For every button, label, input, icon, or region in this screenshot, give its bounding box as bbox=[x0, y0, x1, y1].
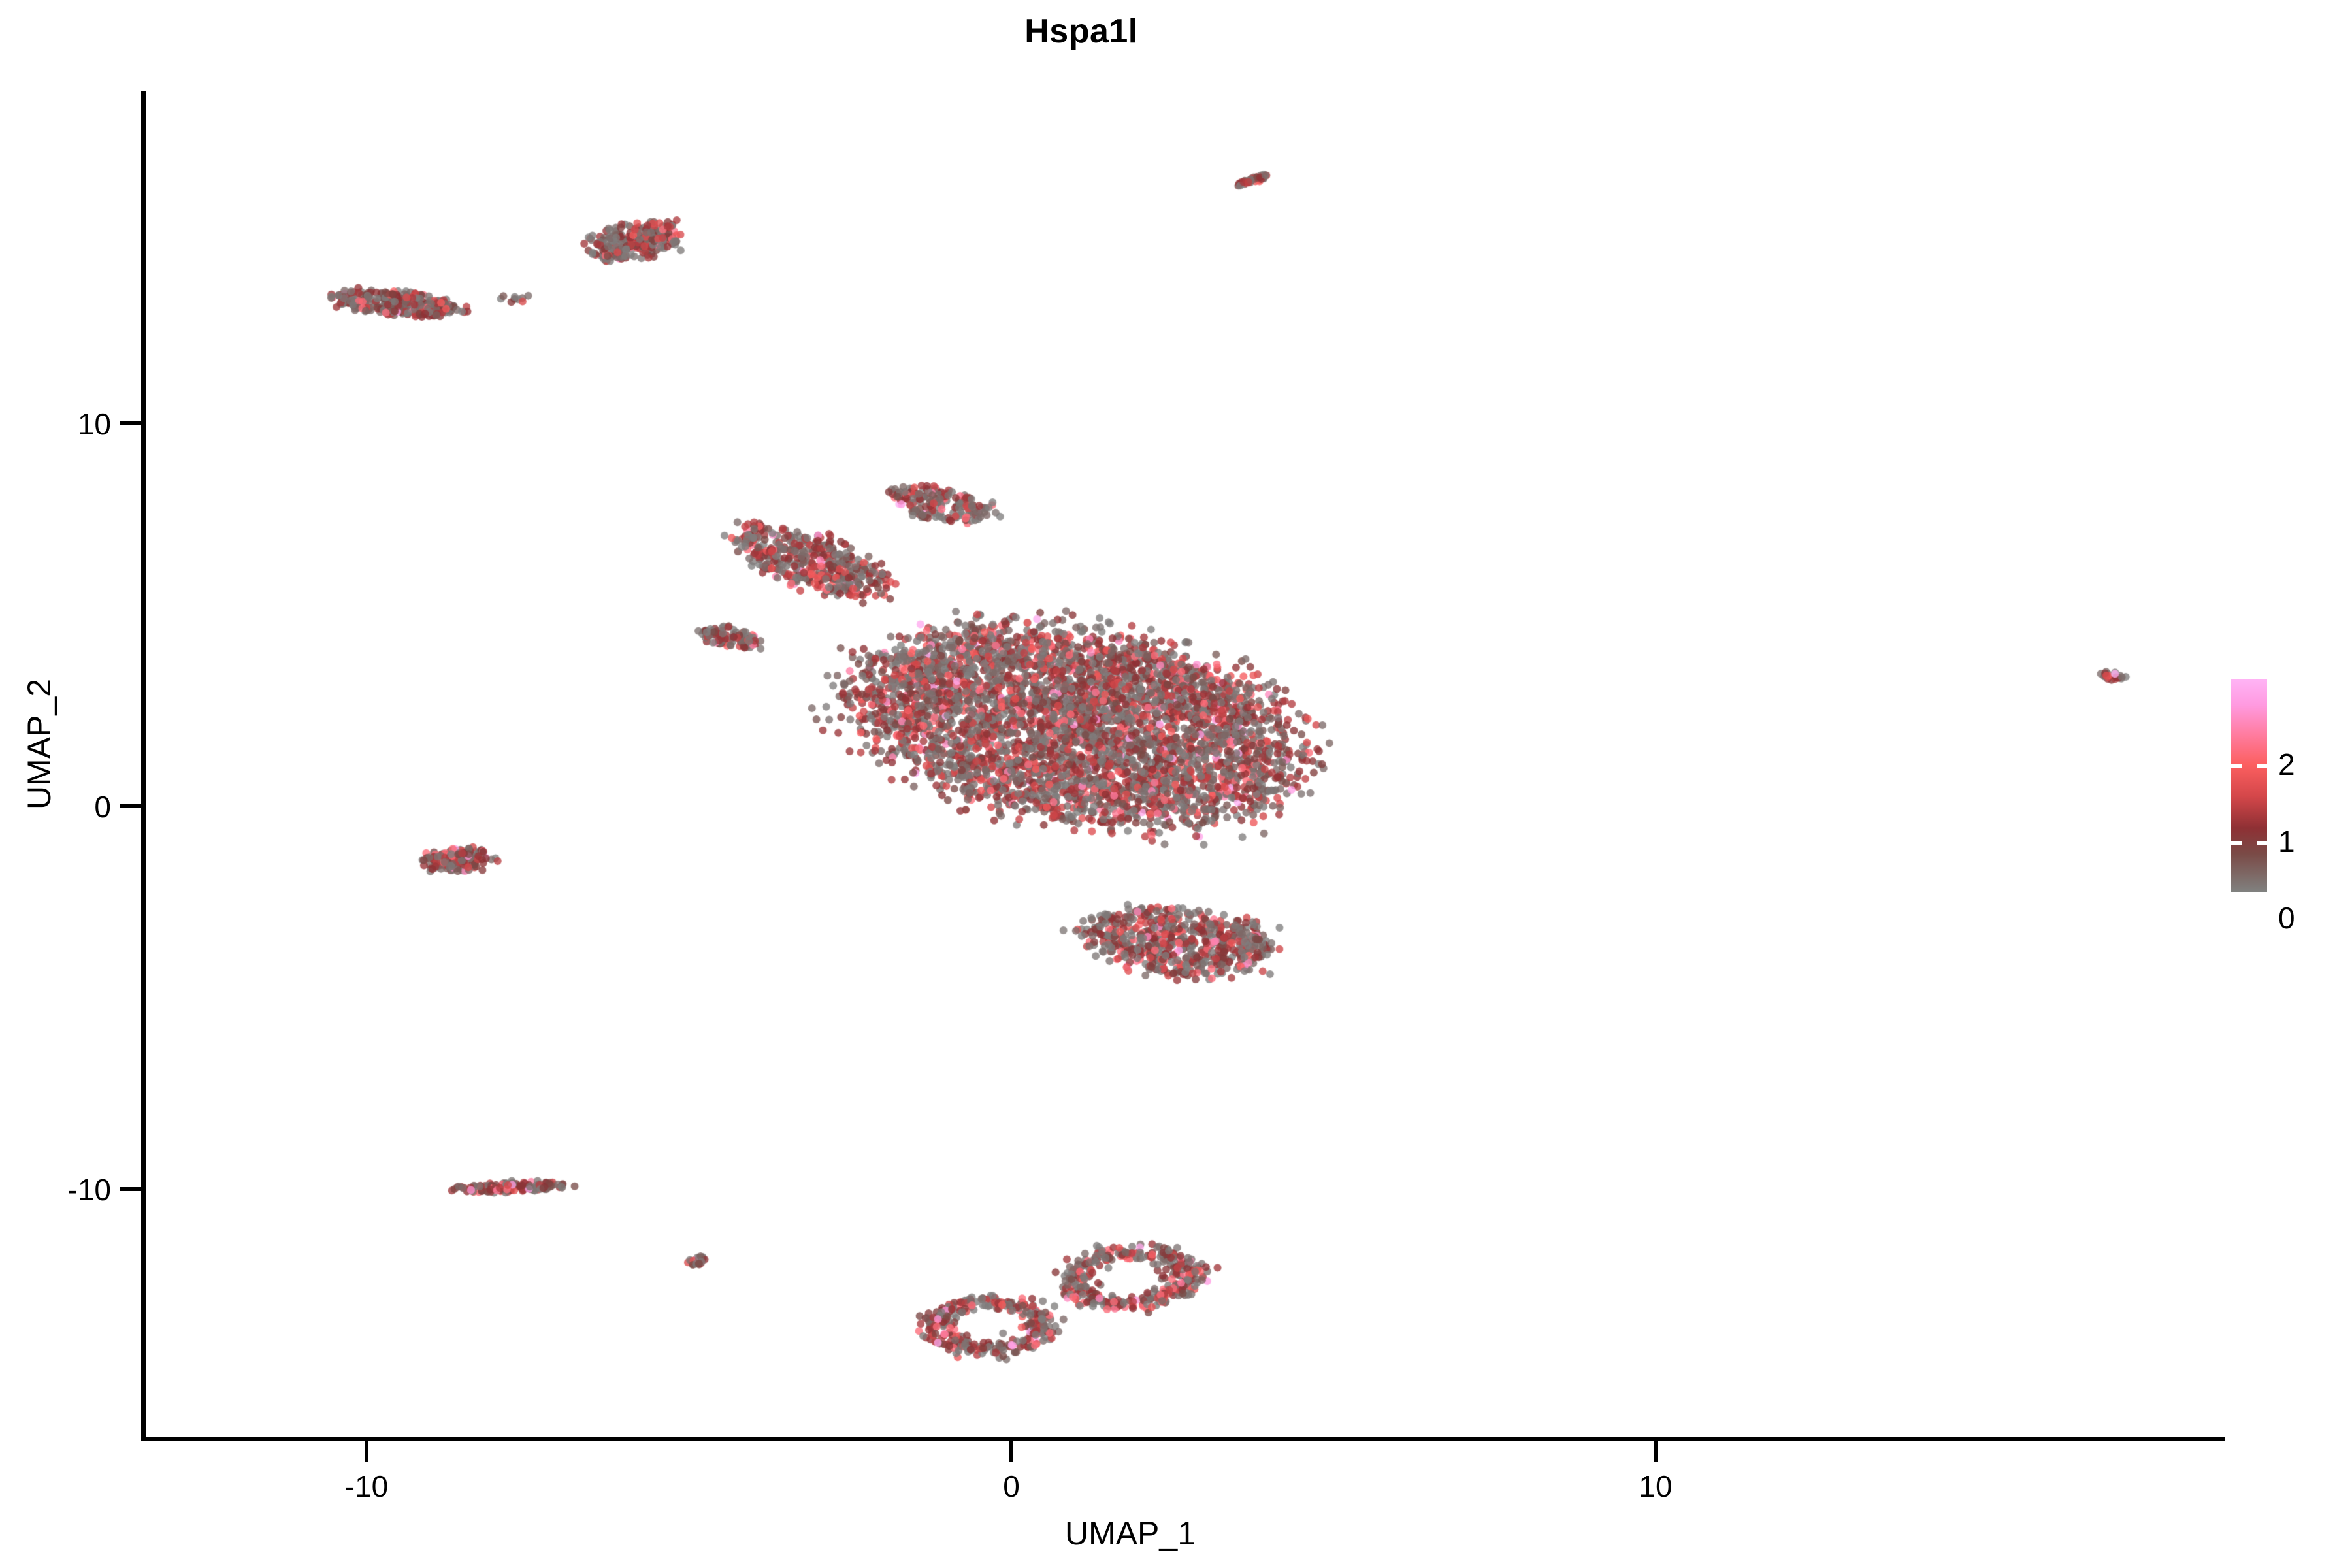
x-tick-label-10: 10 bbox=[1639, 1469, 1672, 1504]
colorbar-label-0: 0 bbox=[2278, 900, 2295, 936]
y-tick-neg10 bbox=[120, 1187, 142, 1191]
colorbar-legend: 2 1 0 bbox=[2231, 679, 2349, 895]
colorbar-tick-1-left bbox=[2231, 841, 2242, 845]
x-axis-line bbox=[141, 1437, 2225, 1441]
y-tick-label-neg10: -10 bbox=[0, 1172, 111, 1207]
x-tick-label-neg10: -10 bbox=[345, 1469, 388, 1504]
colorbar-tick-0-right bbox=[2257, 918, 2267, 921]
y-axis-title: UMAP_2 bbox=[20, 352, 58, 1136]
colorbar-label-1: 1 bbox=[2278, 824, 2295, 859]
x-tick-label-0: 0 bbox=[1003, 1469, 1020, 1504]
x-axis-title: UMAP_1 bbox=[0, 1514, 2261, 1552]
scatter-canvas bbox=[144, 91, 2195, 1439]
colorbar-tick-1-right bbox=[2257, 841, 2267, 845]
y-tick-10 bbox=[120, 421, 142, 425]
y-tick-0 bbox=[120, 804, 142, 808]
colorbar-tick-2-right bbox=[2257, 764, 2267, 768]
x-tick-neg10 bbox=[365, 1441, 368, 1462]
x-tick-10 bbox=[1654, 1441, 1658, 1462]
colorbar-gradient bbox=[2231, 679, 2267, 892]
x-tick-0 bbox=[1009, 1441, 1013, 1462]
page-title: Hspa1l bbox=[0, 12, 2163, 51]
colorbar-tick-2-left bbox=[2231, 764, 2242, 768]
y-axis-line bbox=[141, 91, 146, 1441]
plot-panel bbox=[144, 91, 2195, 1439]
colorbar-tick-0-left bbox=[2231, 918, 2242, 921]
colorbar-label-2: 2 bbox=[2278, 747, 2295, 782]
plot-root: Hspa1l 10 0 -10 -10 0 10 UMAP_1 UMAP_2 2… bbox=[0, 0, 2352, 1568]
